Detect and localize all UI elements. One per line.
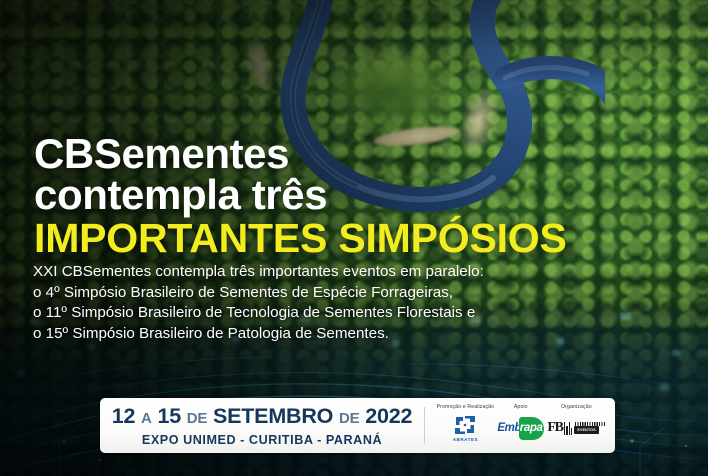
date-day-start: 12 xyxy=(112,404,136,428)
abrates-wordmark: ABRATES xyxy=(453,437,478,442)
description-paragraph: XXI CBSementes contempla três importante… xyxy=(33,262,593,345)
description-line-1: XXI CBSementes contempla três importante… xyxy=(33,262,593,283)
event-promo-banner: CBSementes contempla três IMPORTANTES SI… xyxy=(0,0,708,476)
date-year: 2022 xyxy=(365,404,412,428)
embrapa-logo: Emb rapa xyxy=(497,413,544,443)
sponsor-abrates: Promoção e Realização xyxy=(437,404,495,443)
event-venue: EXPO UNIMED - CURITIBA - PARANÁ xyxy=(142,433,382,447)
abrates-logo: ABRATES xyxy=(452,413,478,443)
description-line-2: o 4º Simpósio Brasileiro de Sementes de … xyxy=(33,283,593,304)
date-de-1: DE xyxy=(187,410,207,427)
abrates-mark-icon xyxy=(452,414,478,436)
description-line-3: o 11º Simpósio Brasileiro de Tecnologia … xyxy=(33,303,593,324)
date-day-end: 15 xyxy=(157,404,181,428)
sponsors-block: Promoção e Realização xyxy=(425,398,615,453)
headline-line-3-accent: IMPORTANTES SIMPÓSIOS xyxy=(34,219,634,258)
sponsor-embrapa: Apoio Emb rapa xyxy=(497,404,544,443)
sponsor-organizacao: Organização FB EVENTOS xyxy=(547,404,605,443)
sponsor-label-apoio: Apoio xyxy=(514,404,528,410)
sponsor-label-promocao: Promoção e Realização xyxy=(437,404,495,410)
event-date: 12 A 15 DE SETEMBRO DE 2022 xyxy=(112,406,413,428)
headline-line-2: contempla três xyxy=(34,175,634,215)
fb-bars-icon xyxy=(564,422,573,435)
embrapa-leaf-icon: rapa xyxy=(519,417,544,440)
fb-eventos-box: EVENTOS xyxy=(574,426,599,434)
headline-line-1: CBSementes xyxy=(34,134,634,174)
embrapa-wordmark-part1: Emb xyxy=(497,422,521,434)
description-line-4: o 15º Simpósio Brasileiro de Patologia d… xyxy=(33,324,593,345)
event-info-card: 12 A 15 DE SETEMBRO DE 2022 EXPO UNIMED … xyxy=(100,398,615,453)
date-venue-block: 12 A 15 DE SETEMBRO DE 2022 EXPO UNIMED … xyxy=(100,398,424,453)
sponsor-label-organizacao: Organização xyxy=(561,404,592,410)
date-month: SETEMBRO xyxy=(213,404,333,428)
headline: CBSementes contempla três IMPORTANTES SI… xyxy=(34,134,634,258)
embrapa-wordmark-part2: rapa xyxy=(520,422,543,434)
date-de-2: DE xyxy=(339,410,359,427)
date-connector: A xyxy=(141,410,152,427)
fb-eventos-logo: FB EVENTOS xyxy=(547,413,605,443)
fb-monogram: FB xyxy=(547,420,563,436)
